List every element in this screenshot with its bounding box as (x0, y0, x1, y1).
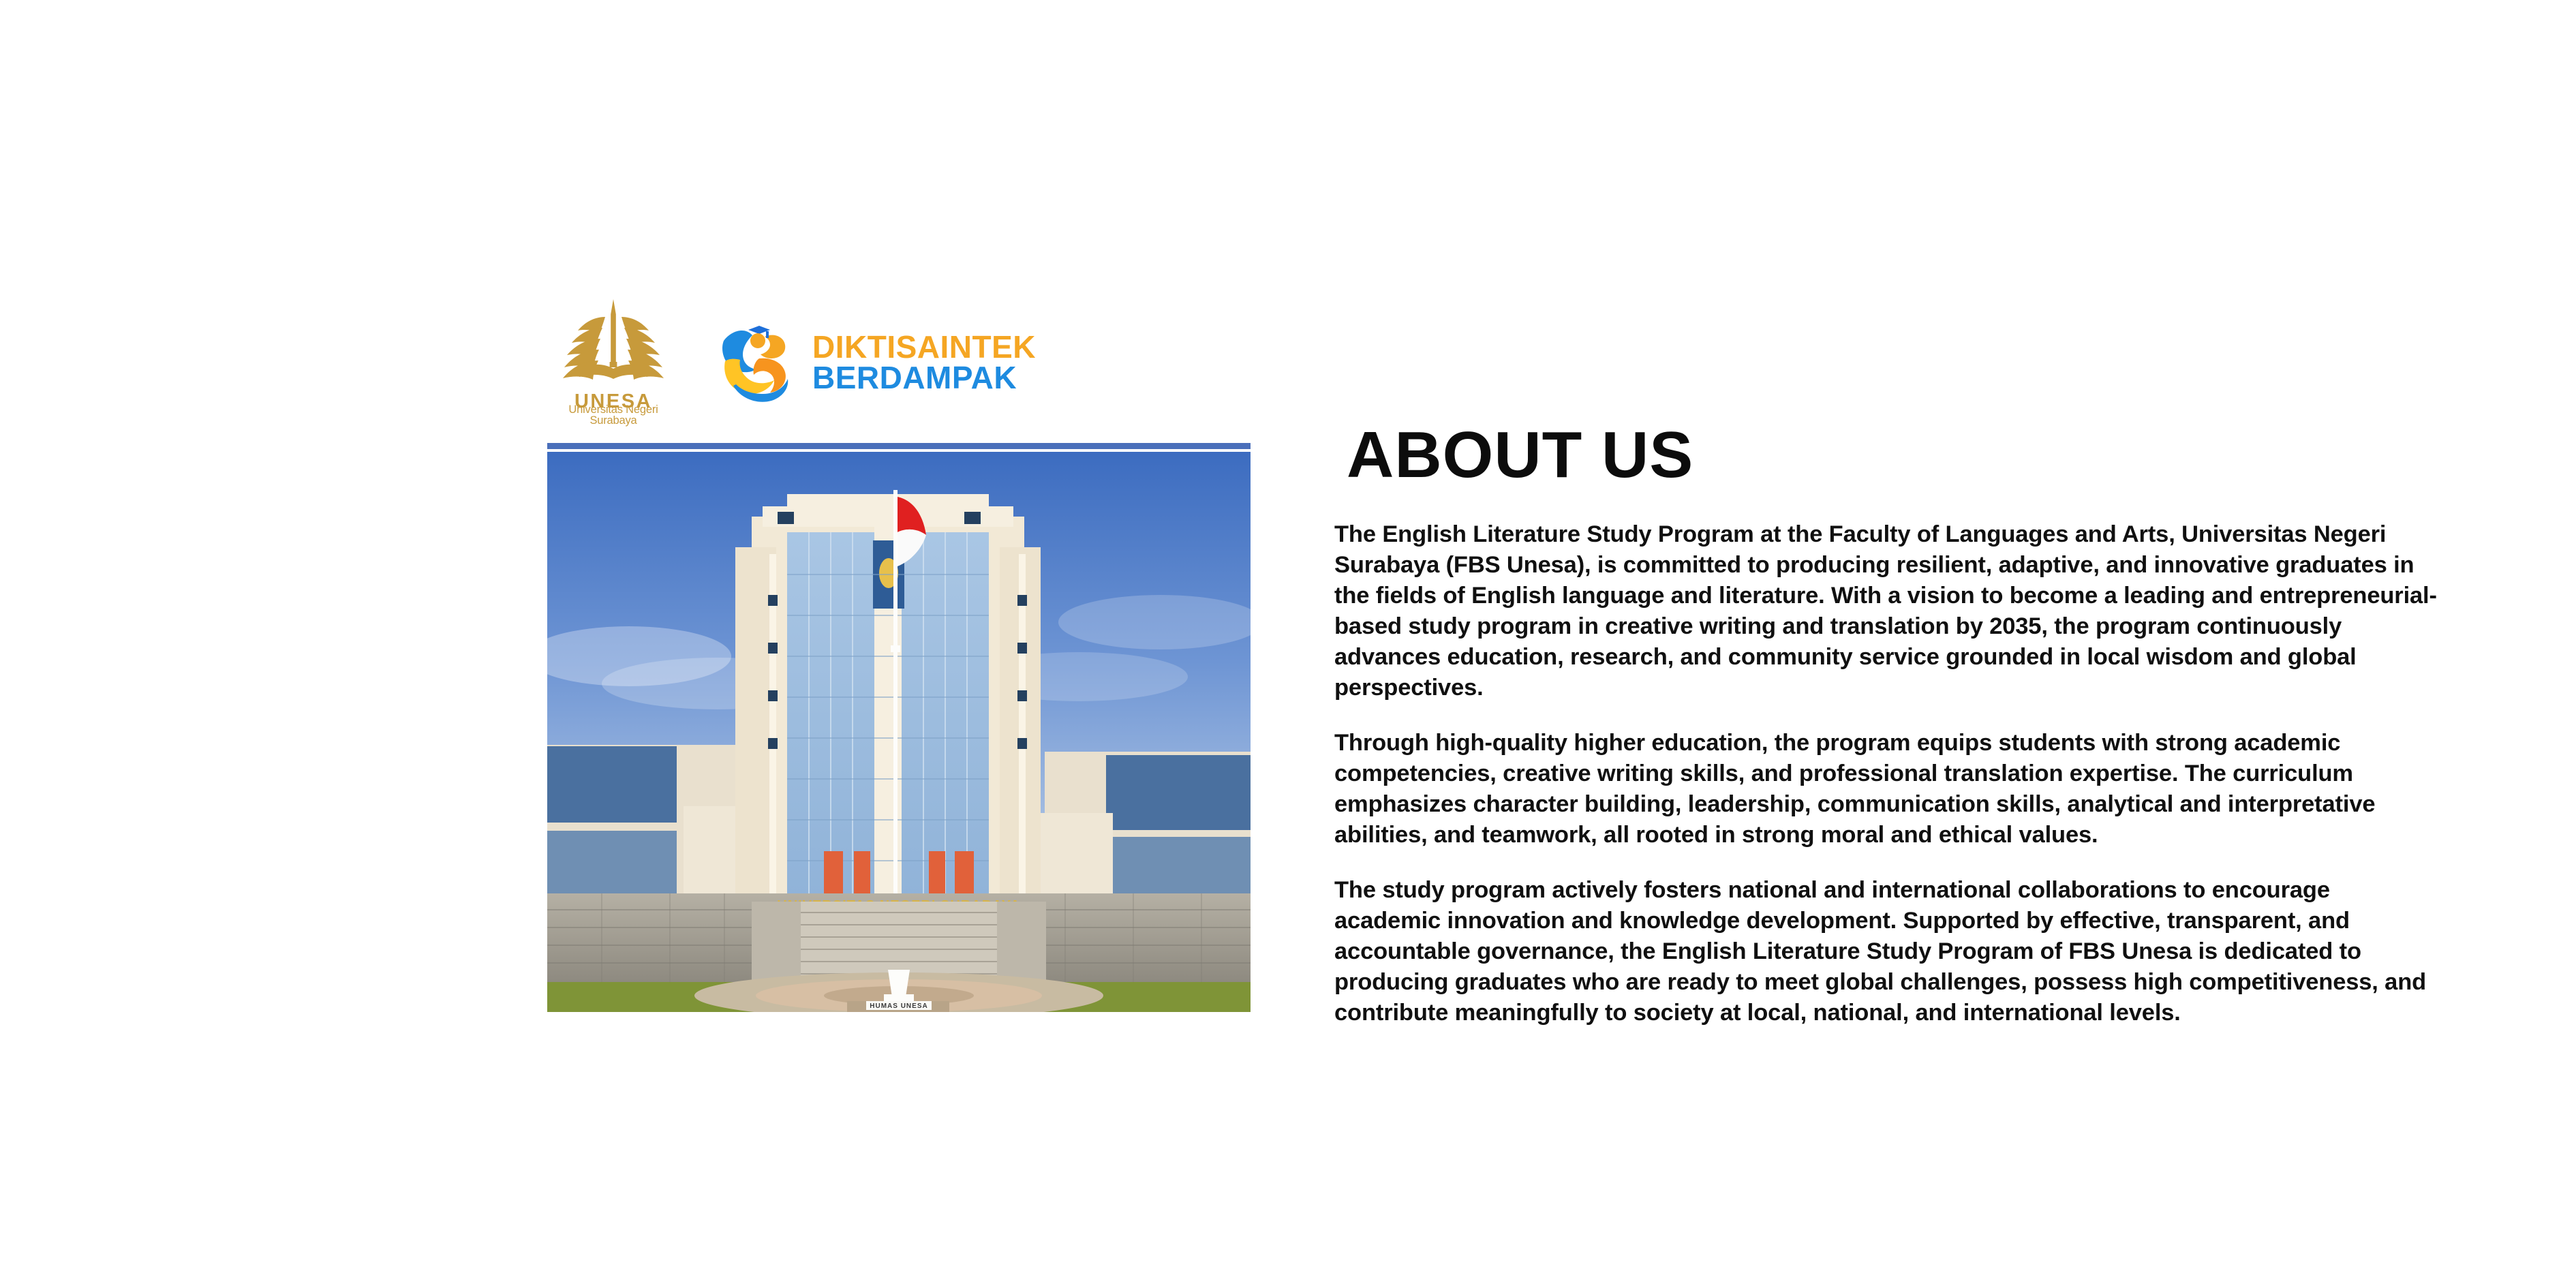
building-photo-illustration: UNIVERSITAS NEGERI SURABAYA GROWING WITH… (547, 452, 1251, 1012)
campus-photo-block: UNIVERSITAS NEGERI SURABAYA GROWING WITH… (547, 443, 1251, 1012)
unesa-logo: UNESA Universitas Negeri Surabaya (559, 296, 668, 429)
unesa-rectorate-building-photo: UNIVERSITAS NEGERI SURABAYA GROWING WITH… (547, 452, 1251, 1012)
unesa-wings-monument-icon (559, 296, 668, 400)
about-us-heading: ABOUT US (1347, 423, 2438, 488)
about-us-section: ABOUT US The English Literature Study Pr… (1334, 423, 2438, 1053)
diktisaintek-line2: BERDAMPAK (812, 363, 1036, 393)
about-us-page: UNESA Universitas Negeri Surabaya (0, 0, 2576, 1288)
diktisaintek-logo: DIKTISAINTEK BERDAMPAK (717, 318, 1036, 408)
institution-logo-strip: UNESA Universitas Negeri Surabaya (559, 294, 995, 431)
about-paragraph-2: Through high-quality higher education, t… (1334, 728, 2438, 850)
diktisaintek-wordmark: DIKTISAINTEK BERDAMPAK (812, 332, 1036, 393)
photo-accent-bar (547, 443, 1251, 449)
unesa-full-name: Universitas Negeri Surabaya (555, 404, 672, 427)
about-paragraph-3: The study program actively fosters natio… (1334, 875, 2438, 1028)
diktisaintek-line1: DIKTISAINTEK (812, 332, 1036, 363)
diktisaintek-person-swirl-icon (717, 318, 797, 408)
about-paragraph-1: The English Literature Study Program at … (1334, 519, 2438, 703)
svg-text:HUMAS UNESA: HUMAS UNESA (870, 1002, 927, 1010)
